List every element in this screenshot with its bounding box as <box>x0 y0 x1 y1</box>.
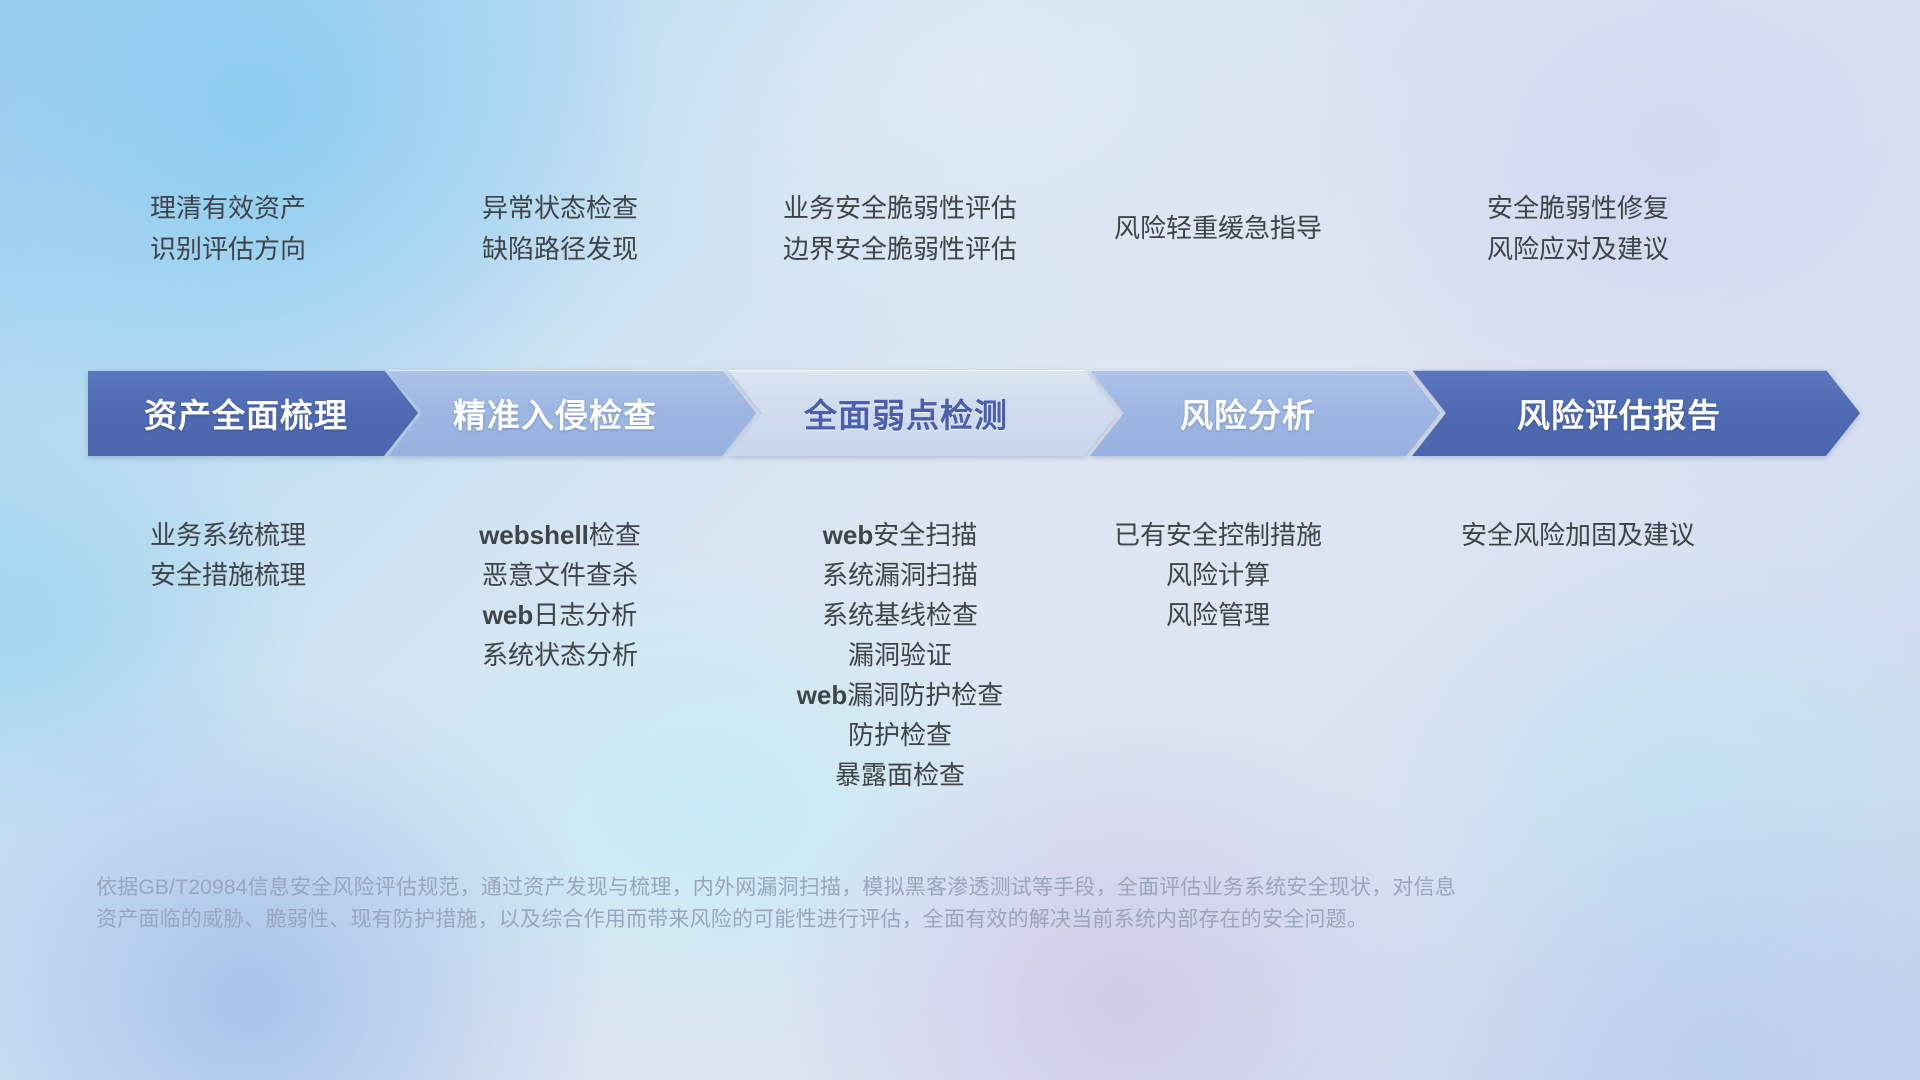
footer-line-2: 资产面临的威胁、脆弱性、现有防护措施，以及综合作用而带来风险的可能性进行评估，全… <box>96 904 1836 936</box>
chevron-stage-3[interactable]: 全面弱点检测 <box>728 370 1118 456</box>
top-caption-line: 安全脆弱性修复 <box>1278 188 1878 229</box>
process-diagram: 理清有效资产识别评估方向异常状态检查缺陷路径发现业务安全脆弱性评估边界安全脆弱性… <box>0 0 1920 1080</box>
chevron-label-4: 风险分析 <box>1090 389 1440 437</box>
top-caption-column-5: 安全脆弱性修复风险应对及建议 <box>1278 188 1878 270</box>
bottom-caption-line: 风险计算 <box>918 555 1518 595</box>
chevron-label-3: 全面弱点检测 <box>728 389 1118 437</box>
chevron-label-1: 资产全面梳理 <box>88 389 418 437</box>
chevron-stage-1[interactable]: 资产全面梳理 <box>88 370 418 456</box>
chevron-stage-2[interactable]: 精准入侵检查 <box>388 370 756 456</box>
bottom-caption-column-5: 安全风险加固及建议 <box>1278 515 1878 555</box>
bottom-caption-line: 安全风险加固及建议 <box>1278 515 1878 555</box>
bottom-caption-line: 风险管理 <box>918 595 1518 635</box>
bottom-caption-line: 防护检查 <box>600 715 1200 755</box>
footer-description: 依据GB/T20984信息安全风险评估规范，通过资产发现与梳理，内外网漏洞扫描，… <box>96 872 1836 936</box>
bottom-caption-line: 漏洞验证 <box>600 635 1200 675</box>
footer-line-1: 依据GB/T20984信息安全风险评估规范，通过资产发现与梳理，内外网漏洞扫描，… <box>96 872 1836 904</box>
top-caption-line: 风险应对及建议 <box>1278 229 1878 270</box>
chevron-band: 资产全面梳理精准入侵检查全面弱点检测风险分析风险评估报告 <box>88 370 1860 456</box>
chevron-label-2: 精准入侵检查 <box>388 389 756 437</box>
chevron-label-5: 风险评估报告 <box>1412 389 1860 437</box>
chevron-stage-4[interactable]: 风险分析 <box>1090 370 1440 456</box>
bottom-caption-line: web漏洞防护检查 <box>600 675 1200 715</box>
chevron-stage-5[interactable]: 风险评估报告 <box>1412 370 1860 456</box>
bottom-caption-line: 暴露面检查 <box>600 755 1200 795</box>
